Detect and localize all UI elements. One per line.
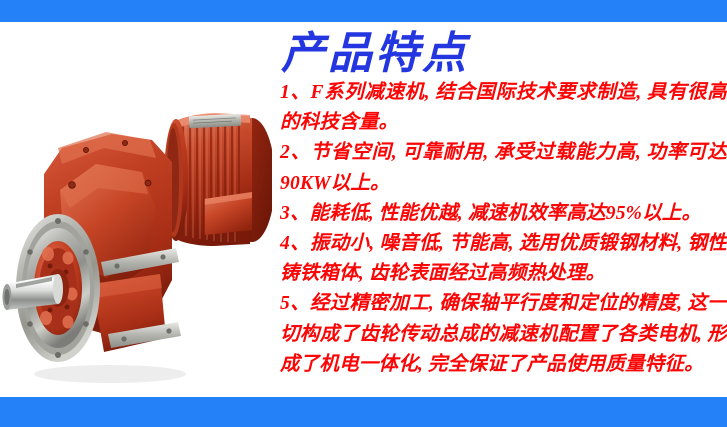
feature-item-2: 2、节省空间, 可靠耐用, 承受过载能力高, 功率可达90KW以上。 — [280, 138, 727, 198]
feature-list: 1、F系列减速机, 结合国际技术要求制造, 具有很高的科技含量。 2、节省空间,… — [280, 78, 727, 380]
bottom-accent-bar — [0, 397, 727, 427]
top-accent-bar — [0, 0, 727, 22]
feature-item-4: 4、振动小, 噪音低, 节能高, 选用优质锻钢材料, 钢性铸铁箱体, 齿轮表面经… — [280, 229, 727, 289]
feature-item-5: 5、经过精密加工, 确保轴平行度和定位的精度, 这一切构成了齿轮传动总成的减速机… — [280, 289, 727, 380]
feature-item-3: 3、能耗低, 性能优越, 减速机效率高达95%以上。 — [280, 199, 727, 229]
feature-item-1: 1、F系列减速机, 结合国际技术要求制造, 具有很高的科技含量。 — [280, 78, 727, 138]
product-photo — [0, 22, 272, 397]
gear-motor-photo — [0, 22, 272, 397]
motor-assembly — [164, 113, 272, 246]
product-feature-banner: 产品特点 1、F系列减速机, 结合国际技术要求制造, 具有很高的科技含量。 2、… — [0, 0, 727, 427]
page-title: 产品特点 — [281, 32, 469, 76]
feature-text-column: 产品特点 1、F系列减速机, 结合国际技术要求制造, 具有很高的科技含量。 2、… — [272, 22, 727, 427]
